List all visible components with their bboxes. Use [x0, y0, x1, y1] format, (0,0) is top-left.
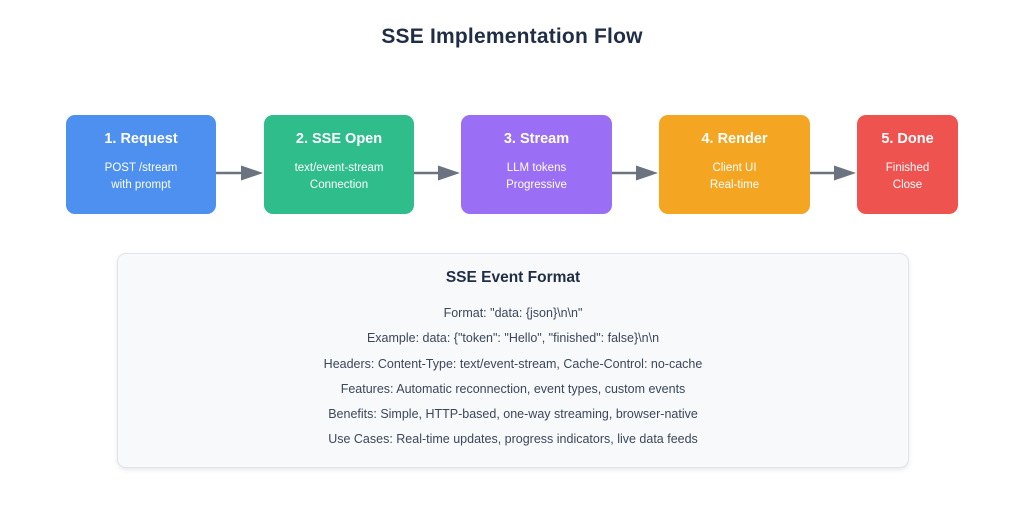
- panel-line-format: Format: "data: {json}\n\n": [444, 301, 583, 326]
- flow-node-render[interactable]: 4. Render Client UI Real-time: [659, 115, 810, 214]
- flow-node-detail-line-1: text/event-stream: [295, 160, 384, 178]
- panel-line-benefits: Benefits: Simple, HTTP-based, one-way st…: [328, 402, 698, 427]
- panel-line-list: Format: "data: {json}\n\n" Example: data…: [118, 301, 908, 453]
- sse-event-format-panel: SSE Event Format Format: "data: {json}\n…: [117, 253, 909, 468]
- flow-node-title: 4. Render: [701, 132, 767, 148]
- flow-node-sse-open[interactable]: 2. SSE Open text/event-stream Connection: [264, 115, 414, 214]
- flow-node-detail-line-1: Finished: [886, 160, 929, 178]
- flow-node-detail-line-2: Progressive: [506, 177, 567, 195]
- flow-node-detail-line-1: Client UI: [712, 160, 756, 178]
- page-title: SSE Implementation Flow: [0, 25, 1024, 49]
- flow-node-stream[interactable]: 3. Stream LLM tokens Progressive: [461, 115, 612, 214]
- flow-node-title: 2. SSE Open: [296, 132, 382, 148]
- arrow-right-icon: [414, 164, 461, 182]
- flow-node-title: 5. Done: [881, 132, 933, 148]
- flow-node-detail-line-1: POST /stream: [105, 160, 178, 178]
- flow-node-request[interactable]: 1. Request POST /stream with prompt: [66, 115, 216, 214]
- flow-diagram: 1. Request POST /stream with prompt 2. S…: [0, 115, 1024, 215]
- flow-node-title: 1. Request: [104, 132, 177, 148]
- flow-node-done[interactable]: 5. Done Finished Close: [857, 115, 958, 214]
- flow-node-title: 3. Stream: [504, 132, 569, 148]
- flow-node-detail-line-2: Connection: [310, 177, 368, 195]
- flow-node-detail-line-2: Close: [893, 177, 922, 195]
- arrow-right-icon: [612, 164, 659, 182]
- flow-node-detail-line-2: with prompt: [111, 177, 170, 195]
- panel-title: SSE Event Format: [446, 269, 580, 287]
- arrow-right-icon: [216, 164, 264, 182]
- panel-line-features: Features: Automatic reconnection, event …: [341, 377, 686, 402]
- flow-node-detail-line-1: LLM tokens: [507, 160, 566, 178]
- panel-line-example: Example: data: {"token": "Hello", "finis…: [367, 326, 659, 351]
- flow-node-detail-line-2: Real-time: [710, 177, 759, 195]
- arrow-right-icon: [810, 164, 857, 182]
- panel-line-use-cases: Use Cases: Real-time updates, progress i…: [328, 427, 698, 452]
- panel-line-headers: Headers: Content-Type: text/event-stream…: [324, 352, 703, 377]
